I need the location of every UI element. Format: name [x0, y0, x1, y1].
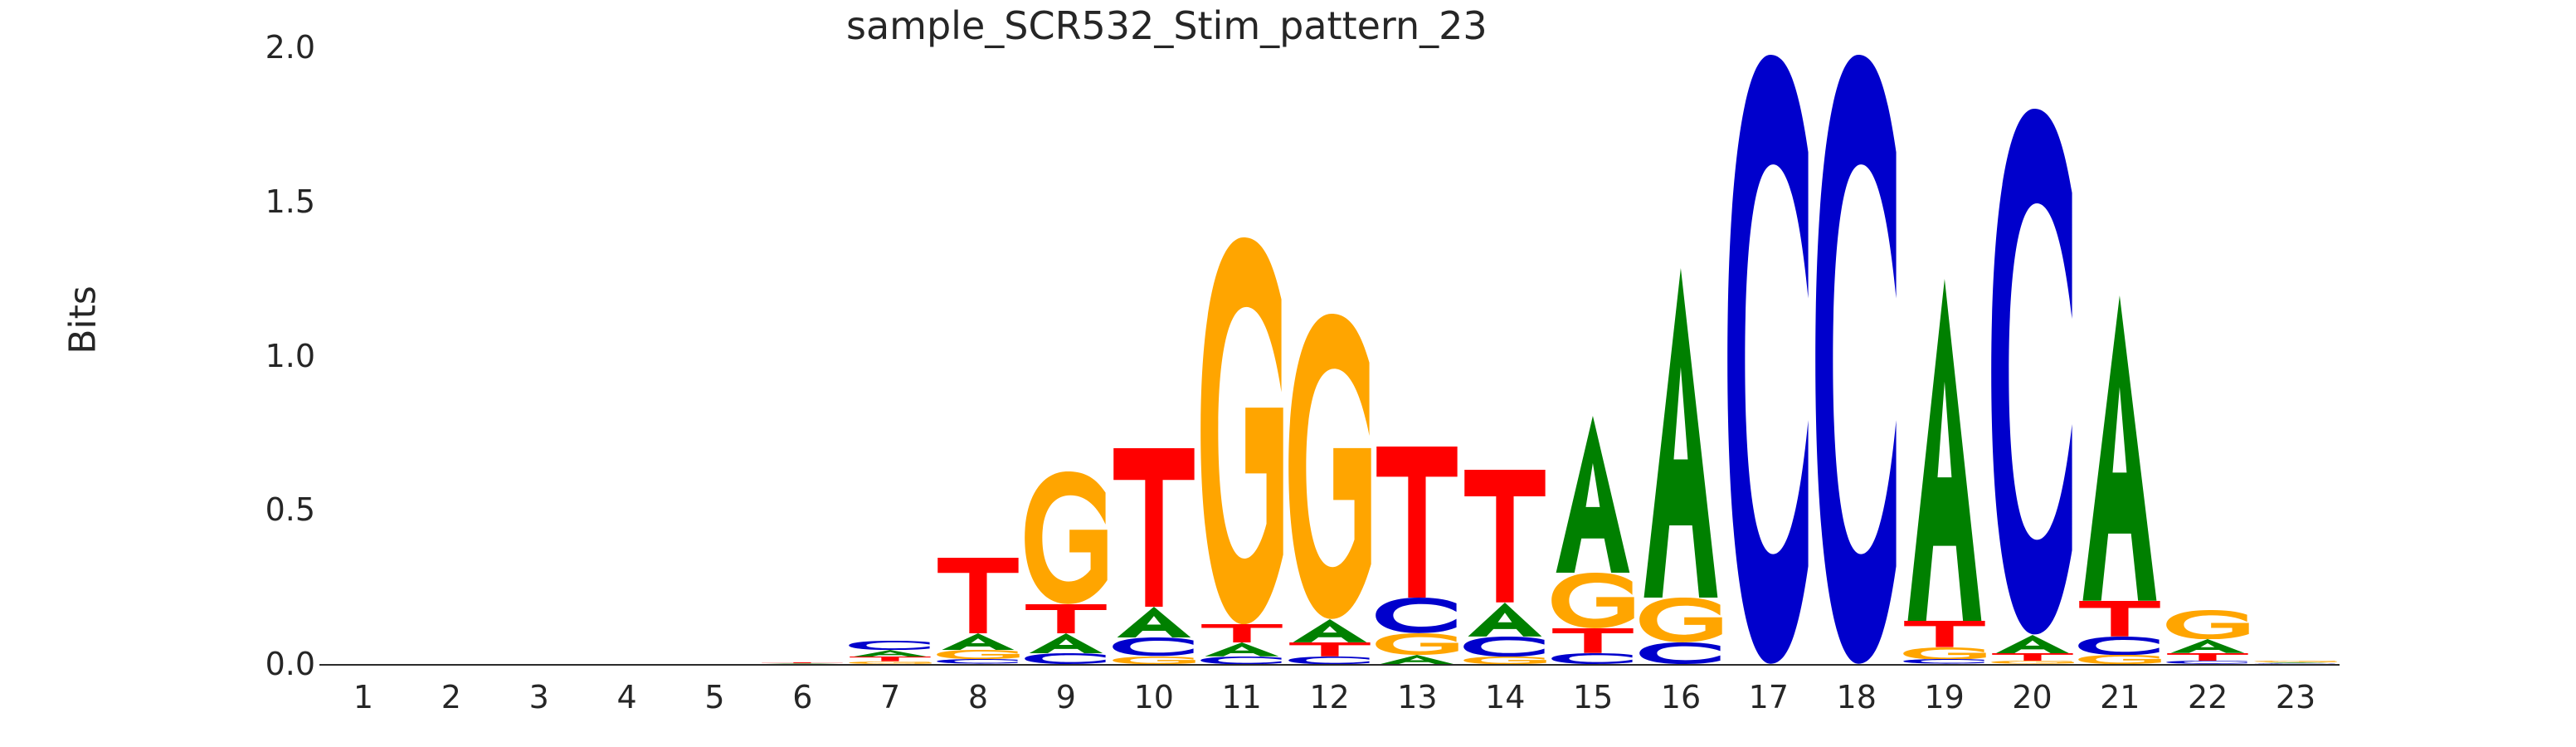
- y-axis-tick-label: 0.5: [166, 491, 315, 528]
- logo-column: [2076, 47, 2164, 664]
- logo-letter-g: [2076, 655, 2164, 664]
- logo-letter-g: [846, 662, 934, 664]
- logo-letter-c: [1725, 55, 1813, 664]
- logo-letter-c: [1813, 55, 1901, 664]
- logo-letter-g: [1549, 573, 1637, 628]
- logo-column: [934, 47, 1022, 664]
- y-axis-tick-label: 0.0: [166, 646, 315, 682]
- x-axis-tick-label: 8: [928, 679, 1028, 715]
- x-axis-tick-label: 15: [1543, 679, 1643, 715]
- logo-letter-a: [934, 633, 1022, 650]
- x-axis-tick-label: 9: [1016, 679, 1116, 715]
- sequence-logo-figure: sample_SCR532_Stim_pattern_23 Bits 0.00.…: [0, 0, 2576, 747]
- logo-column: [1989, 47, 2077, 664]
- logo-letter-t: [1373, 447, 1461, 598]
- x-axis-tick-label: 22: [2158, 679, 2257, 715]
- logo-letter-c: [1286, 657, 1374, 664]
- logo-column: [758, 47, 846, 664]
- logo-column: [495, 47, 583, 664]
- logo-letter-t: [934, 558, 1022, 633]
- x-axis-tick-label: 7: [840, 679, 940, 715]
- logo-letter-a: [1286, 619, 1374, 642]
- logo-letter-a: [1022, 633, 1110, 653]
- y-axis-tick-label: 1.0: [166, 338, 315, 374]
- logo-letter-a: [846, 650, 934, 657]
- logo-column: [1637, 47, 1725, 664]
- logo-letter-g: [1198, 237, 1286, 624]
- logo-letter-g: [1110, 657, 1198, 664]
- x-axis-tick-label: 10: [1104, 679, 1204, 715]
- logo-letter-c: [2076, 637, 2164, 655]
- logo-letter-t: [1198, 624, 1286, 642]
- logo-letter-t: [1461, 470, 1549, 603]
- logo-column: [670, 47, 758, 664]
- logo-column: [1022, 47, 1110, 664]
- x-axis-tick-label: 6: [752, 679, 852, 715]
- logo-plot-area: [319, 47, 2340, 664]
- x-axis-tick-label: 13: [1367, 679, 1467, 715]
- logo-letter-g: [1901, 647, 1989, 660]
- logo-letter-t: [2164, 653, 2252, 661]
- logo-letter-c: [1198, 657, 1286, 664]
- x-axis-tick-label: 17: [1719, 679, 1819, 715]
- logo-letter-t: [1110, 448, 1198, 607]
- logo-letter-a: [758, 663, 846, 664]
- x-axis-tick-label: 12: [1280, 679, 1380, 715]
- x-axis-tick-label: 18: [1807, 679, 1906, 715]
- logo-letter-c: [934, 659, 1022, 664]
- logo-letter-a: [2076, 295, 2164, 601]
- logo-letter-c: [1022, 653, 1110, 664]
- logo-letter-t: [1286, 642, 1374, 657]
- logo-letter-c: [846, 641, 934, 650]
- logo-letter-a: [1549, 416, 1637, 573]
- x-axis-tick-label: 21: [2070, 679, 2169, 715]
- logo-letter-a: [1637, 268, 1725, 598]
- logo-letter-a: [1373, 655, 1461, 664]
- logo-letter-g: [1373, 633, 1461, 655]
- x-axis-tick-label: 3: [489, 679, 589, 715]
- logo-column: [846, 47, 934, 664]
- logo-letter-t: [1549, 628, 1637, 653]
- x-axis-tick-label: 14: [1455, 679, 1555, 715]
- y-axis-label: Bits: [62, 212, 105, 428]
- logo-letter-t: [2076, 601, 2164, 637]
- x-axis-tick-label: 23: [2246, 679, 2345, 715]
- logo-column: [1110, 47, 1198, 664]
- y-axis-tick-group: 0.00.51.01.52.0: [100, 0, 315, 747]
- y-axis-tick-label: 2.0: [166, 29, 315, 66]
- x-axis-tick-label: 2: [402, 679, 501, 715]
- x-axis-tick-label: 16: [1631, 679, 1731, 715]
- logo-letter-a: [1461, 603, 1549, 637]
- logo-letter-c: [1373, 598, 1461, 633]
- y-axis-tick-label: 1.5: [166, 183, 315, 220]
- logo-column: [1549, 47, 1637, 664]
- logo-letter-c: [1110, 637, 1198, 656]
- logo-column: [1373, 47, 1461, 664]
- logo-letter-g: [934, 650, 1022, 659]
- logo-letter-g: [2164, 610, 2252, 639]
- logo-column: [1198, 47, 1286, 664]
- logo-letter-a: [1901, 279, 1989, 621]
- x-axis-tick-label: 11: [1192, 679, 1292, 715]
- logo-letter-t: [1989, 653, 2077, 661]
- page-title: sample_SCR532_Stim_pattern_23: [846, 7, 1488, 45]
- logo-letter-a: [1110, 607, 1198, 637]
- logo-column: [1901, 47, 1989, 664]
- logo-column: [1725, 47, 1813, 664]
- x-axis-tick-label: 20: [1982, 679, 2082, 715]
- logo-letter-g: [1637, 598, 1725, 642]
- logo-column: [2164, 47, 2252, 664]
- logo-letter-g: [1461, 657, 1549, 664]
- x-axis-tick-label: 5: [665, 679, 764, 715]
- logo-letter-t: [1022, 604, 1110, 633]
- logo-letter-c: [1549, 653, 1637, 664]
- logo-letter-c: [1637, 642, 1725, 664]
- logo-letter-a: [1989, 635, 2077, 653]
- logo-column: [319, 47, 407, 664]
- logo-letter-g: [1022, 471, 1110, 604]
- logo-letter-c: [1989, 109, 2077, 634]
- logo-letter-c: [2252, 663, 2340, 664]
- logo-letter-c: [1901, 659, 1989, 664]
- x-axis-tick-label: 19: [1895, 679, 1994, 715]
- logo-letter-a: [1198, 642, 1286, 657]
- x-axis-tick-label: 4: [577, 679, 677, 715]
- x-axis-line: [319, 664, 2340, 666]
- x-axis-tick-label: 1: [314, 679, 413, 715]
- logo-column: [407, 47, 495, 664]
- logo-column: [2252, 47, 2340, 664]
- logo-letter-c: [1461, 637, 1549, 657]
- logo-letter-t: [1901, 621, 1989, 647]
- logo-column: [583, 47, 671, 664]
- logo-letter-g: [1989, 661, 2077, 664]
- logo-letter-g: [1286, 314, 1374, 619]
- logo-letter-c: [2164, 661, 2252, 664]
- logo-column: [1286, 47, 1374, 664]
- logo-letter-a: [2164, 639, 2252, 653]
- logo-column: [1461, 47, 1549, 664]
- logo-column: [1813, 47, 1901, 664]
